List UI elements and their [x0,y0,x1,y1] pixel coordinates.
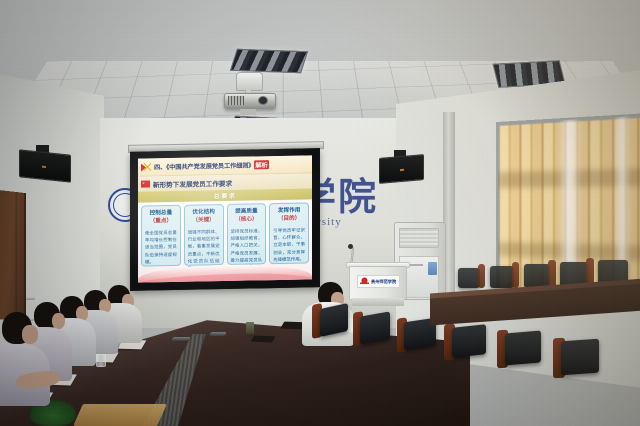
slide-column: 发挥作用（目的） 引导党员牢记宗旨、心怀群众、立足本职、干事创业，充分发挥先锋模… [269,202,309,264]
slide-columns: 控制总量（重点） 使全国党员总量年均增长控制在适当范围，党员队伍保持适度规模。 … [141,202,309,266]
presentation-slide: 四、《中国共产党发展党员工作细则》解析 新形势下发展党员工作要求 总要求 控制总… [138,155,312,282]
speaker-led [400,169,404,171]
tea-cup [246,322,254,334]
table-tray [73,404,167,426]
slide-subtitle: 新形势下发展党员工作要求 [153,177,232,189]
desk-microphone [171,337,191,341]
slide-column-heading: 提高质量（核心） [235,207,257,224]
slide-column-rule [189,227,218,228]
projection-screen: 四、《中国共产党发展党员工作细则》解析 新形势下发展党员工作要求 总要求 控制总… [130,148,320,291]
chair[interactable] [561,339,599,376]
room-door[interactable] [0,190,26,320]
slide-column-body: 引导党员牢记宗旨、心怀群众、立足本职、干事创业，充分发挥先锋模范作用。 [272,228,306,264]
slide-column-body: 使全国党员总量年均增长控制在适当范围，党员队伍保持适度规模。 [144,230,178,266]
ceiling-light-panel [230,49,308,74]
attendee-face [22,325,38,344]
slide-column: 控制总量（重点） 使全国党员总量年均增长控制在适当范围，党员队伍保持适度规模。 [141,205,181,267]
slide-band: 总要求 [138,188,312,202]
desk-microphone [209,332,227,336]
folder [250,336,275,343]
slide-column: 提高质量（核心） 坚持党员标准，加强组织教育，严格入口把关，严格党员发展，着力提… [227,203,267,265]
chair-frame[interactable] [512,262,519,288]
slide-column-heading: 优化结构（关键） [192,208,214,225]
lectern-nameplate: 贵州师范学院 [357,275,400,288]
party-emblem-icon [141,162,152,172]
chair-frame[interactable] [478,264,485,288]
chair[interactable] [360,311,390,344]
projector-post [240,109,256,115]
slide-column-rule [232,226,261,227]
projector-vent [228,96,244,105]
flag-icon [141,180,150,187]
slide-column-heading: 发挥作用（目的） [278,207,300,224]
speaker-led [42,166,46,168]
lectern-logo-icon [360,277,369,286]
chair[interactable] [505,330,541,365]
lectern-text: 贵州师范学院 [371,279,396,285]
microphone-icon [348,244,353,249]
slide-column: 优化结构（关键） 增强不同群体、行业和地区的平衡，着重发展党员重点，不断优化党员… [184,204,224,266]
slide-column-heading: 控制总量（重点） [150,209,172,226]
slide-title: 四、《中国共产党发展党员工作细则》解析 [154,160,269,171]
slide-band-text: 总要求 [214,191,237,200]
slide-column-rule [146,228,175,229]
projector-lens [258,96,268,105]
chair[interactable] [320,303,348,337]
speaker-icon-left [19,149,71,182]
chair[interactable] [452,324,486,358]
air-conditioner-grille [399,228,439,248]
air-conditioner-display [428,262,437,275]
water-glass [96,354,106,367]
door-handle-icon[interactable] [26,297,35,300]
speaker-icon-right [379,154,424,184]
lectern-base [352,298,404,306]
slide-column-rule [275,225,304,226]
chair[interactable] [458,268,480,288]
door-seam [16,192,17,318]
conference-room-photo: 学院 ...ersity 四、《中国共产党发展党员工作细则》解析 [0,0,640,426]
chair[interactable] [490,266,514,288]
